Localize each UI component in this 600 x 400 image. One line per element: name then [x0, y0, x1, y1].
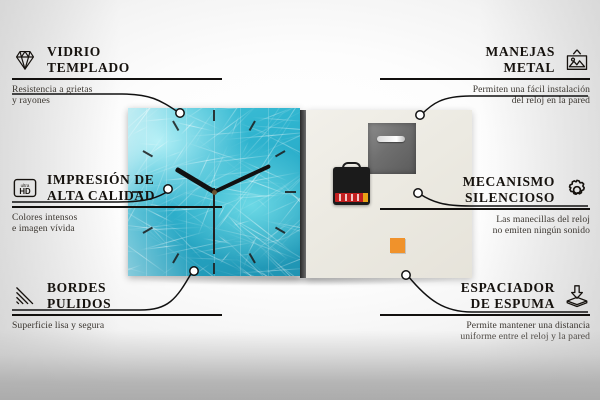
feature-title-line1: IMPRESIÓN DE — [47, 172, 155, 188]
feature-desc-line1: Permite mantener una distancia — [380, 320, 590, 332]
feature-title-line2: TEMPLADO — [47, 60, 130, 76]
feature-espaciador-espuma: ESPACIADOR DE ESPUMA Permite mantener un… — [380, 280, 590, 343]
quartz-movement — [333, 167, 370, 205]
feature-divider — [380, 78, 590, 80]
foam-spacer-pad — [390, 238, 405, 253]
feature-impresion-alta-calidad: ultra HD IMPRESIÓN DE ALTA CALIDAD Color… — [12, 172, 222, 235]
feature-header: ESPACIADOR DE ESPUMA — [380, 280, 590, 311]
feature-title-line1: MECANISMO — [463, 174, 555, 190]
feature-description: Resistencia a grietas y rayones — [12, 84, 222, 107]
feature-description: Superficie lisa y segura — [12, 320, 222, 332]
feature-divider — [12, 206, 222, 208]
feature-desc-line2: e imagen vívida — [12, 223, 222, 235]
diamond-icon — [12, 47, 38, 73]
feature-bordes-pulidos: BORDES PULIDOS Superficie lisa y segura — [12, 280, 222, 331]
feature-manejas-metal: MANEJAS METAL Permiten una fácil instala… — [380, 44, 590, 107]
feature-description: Permiten una fácil instalación del reloj… — [380, 84, 590, 107]
movement-nub — [363, 193, 368, 202]
polished-edges-icon — [12, 283, 38, 309]
feature-title-line1: VIDRIO — [47, 44, 130, 60]
picture-hanger-icon — [564, 47, 590, 73]
feature-title: MANEJAS METAL — [486, 44, 555, 75]
svg-text:HD: HD — [19, 186, 31, 195]
feature-divider — [380, 314, 590, 316]
feature-title-line2: DE ESPUMA — [461, 296, 555, 312]
feature-vidrio-templado: VIDRIO TEMPLADO Resistencia a grietas y … — [12, 44, 222, 107]
ultra-hd-icon: ultra HD — [12, 175, 38, 201]
feature-description: Colores intensos e imagen vívida — [12, 212, 222, 235]
feature-title-line2: ALTA CALIDAD — [47, 188, 155, 204]
feature-title: IMPRESIÓN DE ALTA CALIDAD — [47, 172, 155, 203]
feature-header: VIDRIO TEMPLADO — [12, 44, 222, 75]
clock-tick — [214, 191, 296, 193]
feature-description: Las manecillas del reloj no emiten ningú… — [380, 214, 590, 237]
feature-title: BORDES PULIDOS — [47, 280, 111, 311]
feature-title-line2: PULIDOS — [47, 296, 111, 312]
feature-header: MECANISMO SILENCIOSO — [380, 174, 590, 205]
feature-title-line1: BORDES — [47, 280, 111, 296]
feature-description: Permite mantener una distancia uniforme … — [380, 320, 590, 343]
feature-desc-line1: Las manecillas del reloj — [380, 214, 590, 226]
feature-desc-line1: Resistencia a grietas — [12, 84, 222, 96]
feature-title-line1: ESPACIADOR — [461, 280, 555, 296]
feature-mecanismo-silencioso: MECANISMO SILENCIOSO Las manecillas del … — [380, 174, 590, 237]
feature-header: ultra HD IMPRESIÓN DE ALTA CALIDAD — [12, 172, 222, 203]
feature-desc-line1: Superficie lisa y segura — [12, 320, 222, 332]
feature-title: ESPACIADOR DE ESPUMA — [461, 280, 555, 311]
feature-divider — [12, 78, 222, 80]
metal-hanger-plate — [368, 123, 416, 174]
foam-spacer-icon — [564, 283, 590, 309]
feature-divider — [12, 314, 222, 316]
hanger-loop — [342, 162, 361, 171]
feature-desc-line2: uniforme entre el reloj y la pared — [380, 331, 590, 343]
feature-title: MECANISMO SILENCIOSO — [463, 174, 555, 205]
feature-desc-line2: no emiten ningún sonido — [380, 225, 590, 237]
feature-desc-line2: y rayones — [12, 95, 222, 107]
feature-desc-line1: Colores intensos — [12, 212, 222, 224]
feature-header: MANEJAS METAL — [380, 44, 590, 75]
feature-divider — [380, 208, 590, 210]
gear-icon — [564, 177, 590, 203]
feature-title-line2: SILENCIOSO — [463, 190, 555, 206]
feature-header: BORDES PULIDOS — [12, 280, 222, 311]
feature-desc-line1: Permiten una fácil instalación — [380, 84, 590, 96]
feature-desc-line2: del reloj en la pared — [380, 95, 590, 107]
feature-title-line1: MANEJAS — [486, 44, 555, 60]
feature-title-line2: METAL — [486, 60, 555, 76]
feature-title: VIDRIO TEMPLADO — [47, 44, 130, 75]
